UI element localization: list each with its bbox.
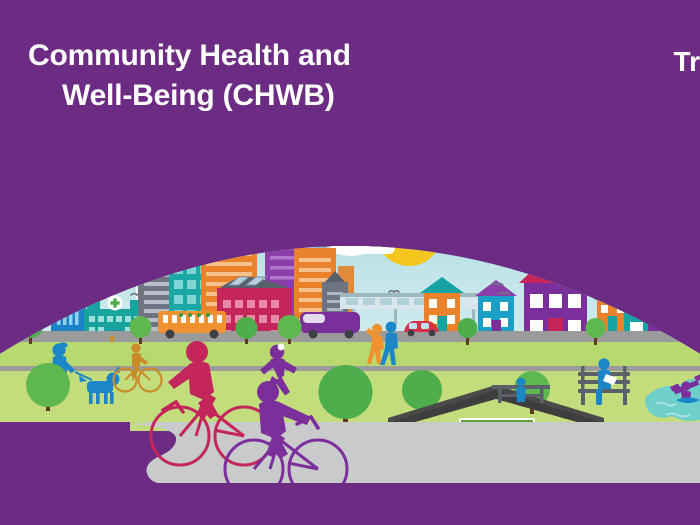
left-purple-block: [0, 422, 130, 488]
slide-root: CHWB: [0, 0, 700, 525]
community-illustration: CHWB: [0, 0, 700, 525]
brand-logo: Tr: [674, 48, 700, 76]
four-point-star-compass-icon: [674, 48, 700, 525]
footer-band: [0, 483, 700, 525]
